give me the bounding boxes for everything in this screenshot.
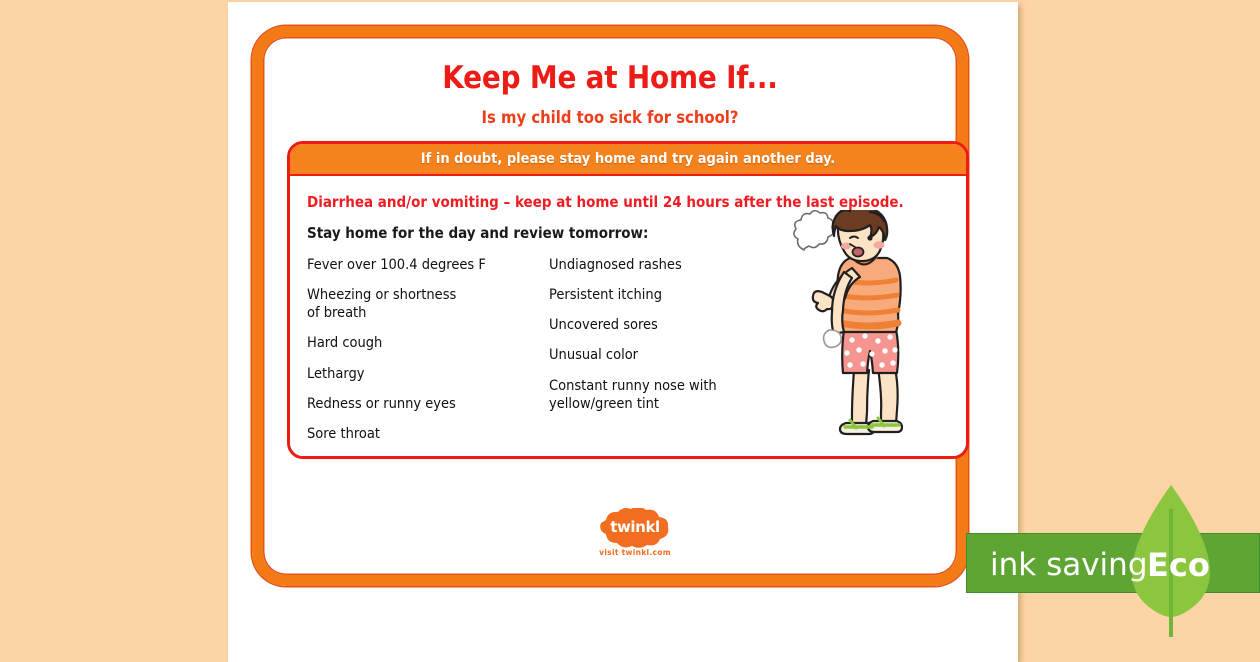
list-item: Hard cough <box>307 334 542 352</box>
page-subtitle: Is my child too sick for school? <box>252 108 968 127</box>
page-title: Keep Me at Home If... <box>252 60 968 96</box>
symptom-list-left: Fever over 100.4 degrees F Wheezing or s… <box>307 256 542 455</box>
list-item: Unusual color <box>549 346 779 364</box>
list-item: Uncovered sores <box>549 316 779 334</box>
list-item: Constant runny nose with yellow/green ti… <box>549 377 779 413</box>
eco-eco-label: Eco <box>1147 546 1210 584</box>
content-panel: If in doubt, please stay home and try ag… <box>287 141 969 459</box>
coughing-boy-illustration <box>782 210 958 450</box>
list-item: Persistent itching <box>549 286 779 304</box>
list-item: Sore throat <box>307 425 542 443</box>
list-item: Lethargy <box>307 365 542 383</box>
alert-text: Diarrhea and/or vomiting – keep at home … <box>307 193 904 211</box>
twinkl-wordmark: twinkl <box>580 518 690 536</box>
advice-banner: If in doubt, please stay home and try ag… <box>289 143 967 176</box>
eco-badge: ink saving Eco <box>966 533 1260 593</box>
eco-ink-label: ink saving <box>990 547 1148 583</box>
symptom-list-right: Undiagnosed rashes Persistent itching Un… <box>549 256 779 425</box>
list-item: Fever over 100.4 degrees F <box>307 256 542 274</box>
list-item: Wheezing or shortness of breath <box>307 286 542 322</box>
instruction-text: Stay home for the day and review tomorro… <box>307 224 648 242</box>
list-item: Redness or runny eyes <box>307 395 542 413</box>
list-item: Undiagnosed rashes <box>549 256 779 274</box>
poster-canvas: Keep Me at Home If... Is my child too si… <box>0 0 1260 630</box>
twinkl-url: visit twinkl.com <box>580 548 690 557</box>
